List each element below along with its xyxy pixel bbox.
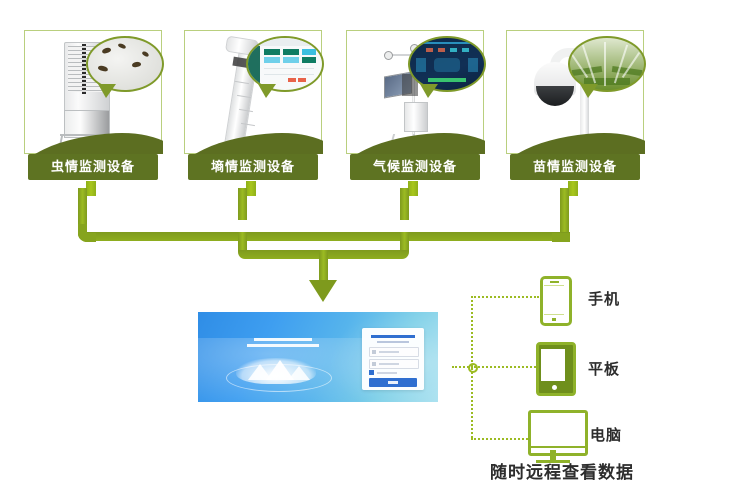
login-panel[interactable] — [362, 328, 424, 390]
tablet-icon — [536, 342, 576, 396]
bubble-tail — [258, 84, 276, 98]
phone-icon — [540, 276, 572, 326]
device-card-weather[interactable]: 气候监测设备 — [346, 30, 486, 180]
flow-arrow-icon — [309, 280, 337, 302]
diagram-canvas: 虫情监测设备 — [0, 0, 750, 500]
remember-label — [377, 372, 397, 374]
login-title — [371, 335, 415, 338]
username-field[interactable] — [369, 347, 419, 357]
device-card-label: 墒情监测设备 — [188, 154, 318, 180]
terminal-label: 电脑 — [590, 424, 622, 445]
device-card-camera[interactable]: 苗情监测设备 — [506, 30, 646, 180]
device-card-label: 气候监测设备 — [350, 154, 480, 180]
device-card-label: 虫情监测设备 — [28, 154, 158, 180]
distribution-node — [468, 363, 478, 373]
bubble-tail — [98, 84, 116, 98]
bubble-tail — [580, 84, 598, 98]
device-card-soil[interactable]: 墒情监测设备 — [184, 30, 324, 180]
card-ground — [347, 120, 485, 154]
login-submit-button[interactable] — [369, 378, 417, 387]
card-ground — [507, 120, 645, 154]
aggregation-connector — [60, 188, 580, 298]
card-ground — [25, 120, 163, 154]
platform-headline — [240, 338, 326, 350]
card-ground — [185, 120, 323, 154]
terminal-label: 手机 — [588, 288, 620, 309]
diagram-caption: 随时远程查看数据 — [490, 458, 634, 483]
bubble-tail — [420, 84, 438, 98]
password-field[interactable] — [369, 359, 419, 369]
platform-login-screenshot[interactable] — [198, 312, 438, 402]
terminal-label: 平板 — [588, 358, 620, 379]
device-card-insect[interactable]: 虫情监测设备 — [24, 30, 164, 180]
device-card-label: 苗情监测设备 — [510, 154, 640, 180]
monitor-icon — [528, 410, 588, 456]
remember-checkbox[interactable] — [369, 370, 374, 375]
login-subtitle — [377, 341, 409, 343]
